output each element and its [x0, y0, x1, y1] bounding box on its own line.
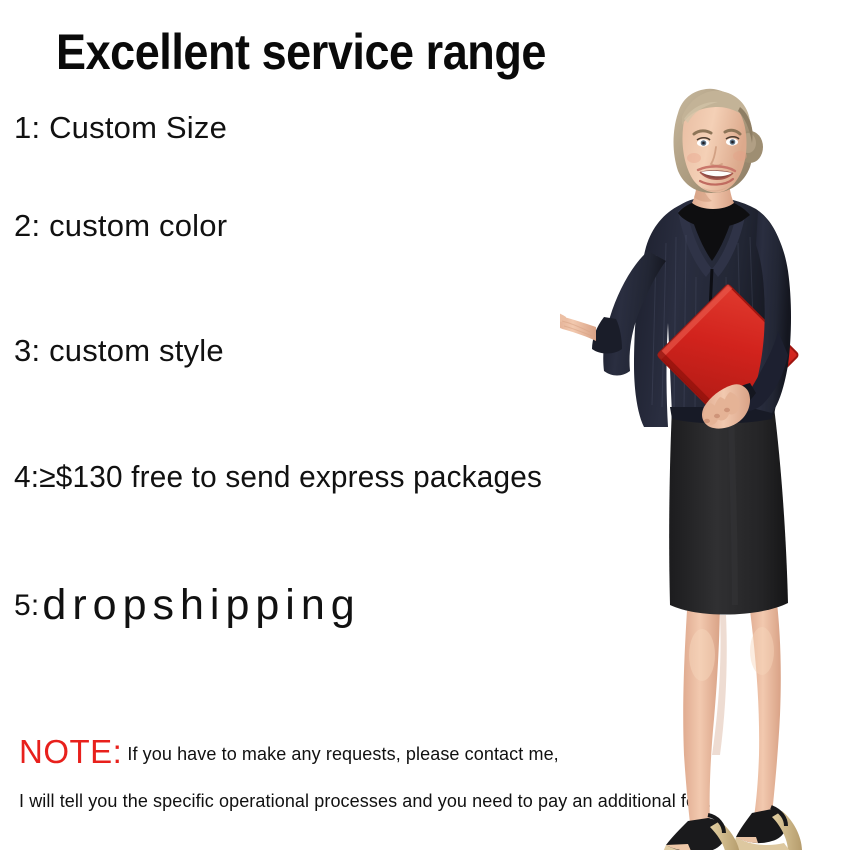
- service-item-2-number: 2:: [14, 208, 40, 243]
- legs: [683, 595, 781, 825]
- service-item-2: 2: custom color: [14, 208, 227, 244]
- note-block: NOTE:If you have to make any requests, p…: [19, 733, 559, 771]
- service-item-1-label: Custom Size: [49, 110, 227, 145]
- page-title: Excellent service range: [56, 22, 546, 82]
- service-item-5-number: 5:: [14, 589, 39, 622]
- businesswoman-photo: [560, 55, 850, 850]
- shoes: [660, 807, 802, 850]
- promo-banner: Excellent service range 1: Custom Size 2…: [0, 0, 850, 850]
- service-item-5-label: dropshipping: [42, 581, 360, 629]
- service-item-3-number: 3:: [14, 333, 40, 368]
- note-text-line-1: If you have to make any requests, please…: [127, 744, 558, 764]
- service-item-3-label: custom style: [49, 333, 224, 368]
- service-item-4-number: 4:: [14, 459, 39, 494]
- service-item-3: 3: custom style: [14, 333, 224, 369]
- service-item-1: 1: Custom Size: [14, 110, 227, 146]
- service-item-5: 5:dropshipping: [14, 577, 361, 626]
- skirt: [669, 407, 788, 615]
- service-item-4-label: ≥$130 free to send express packages: [39, 459, 542, 494]
- note-label: NOTE:: [19, 733, 122, 770]
- businesswoman-illustration: [560, 55, 850, 850]
- service-item-4: 4:≥$130 free to send express packages: [14, 459, 542, 495]
- head: [674, 89, 764, 193]
- service-item-1-number: 1:: [14, 110, 40, 145]
- service-item-2-label: custom color: [49, 208, 227, 243]
